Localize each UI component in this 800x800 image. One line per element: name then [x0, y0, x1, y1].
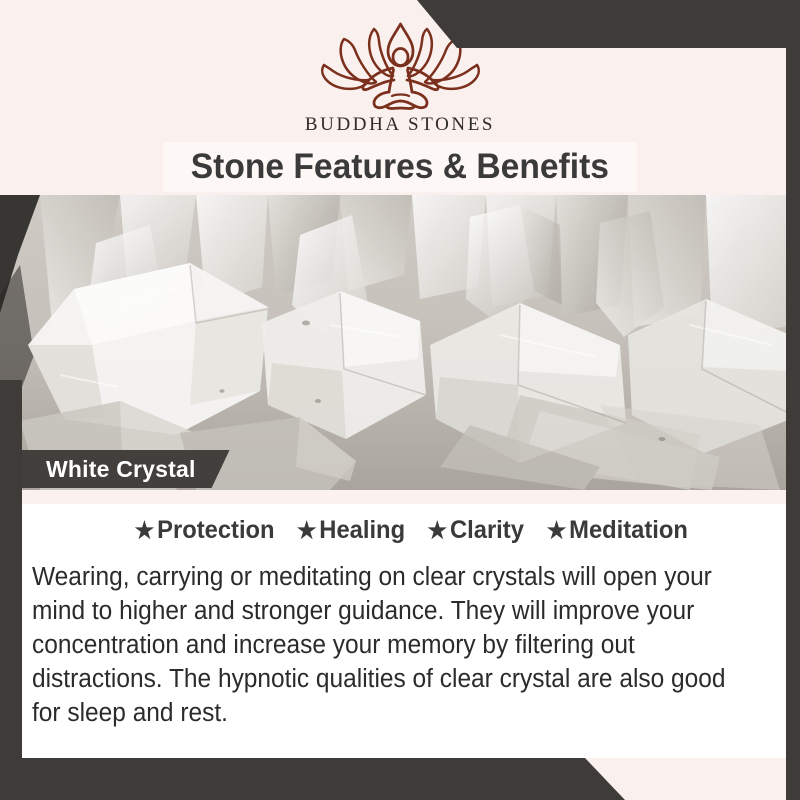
- page-title: Stone Features & Benefits: [191, 147, 609, 187]
- title-banner: Stone Features & Benefits: [163, 142, 637, 192]
- benefit-label: Clarity: [450, 516, 524, 544]
- left-decorative-band: [0, 380, 22, 800]
- bottom-decorative-band: [0, 758, 800, 800]
- benefit-item: ★Healing: [297, 516, 405, 545]
- content-panel-top-strip: [22, 490, 800, 504]
- star-icon: ★: [546, 517, 566, 543]
- poster-root: BUDDHA STONES Stone Features & Benefits: [0, 0, 800, 800]
- stone-name-tag: White Crystal: [22, 450, 230, 488]
- benefits-list: ★Protection ★Healing ★Clarity ★Meditatio…: [22, 516, 800, 545]
- star-icon: ★: [427, 517, 447, 543]
- benefit-label: Protection: [157, 516, 274, 544]
- star-icon: ★: [134, 517, 154, 543]
- star-icon: ★: [297, 517, 317, 543]
- right-decorative-band: [786, 0, 800, 800]
- benefit-item: ★Clarity: [427, 516, 523, 545]
- benefit-label: Healing: [320, 516, 406, 544]
- crystal-photo: [0, 195, 800, 490]
- benefit-item: ★Meditation: [546, 516, 687, 545]
- benefit-item: ★Protection: [134, 516, 274, 545]
- brand-name: BUDDHA STONES: [0, 114, 800, 136]
- stone-name: White Crystal: [46, 456, 196, 483]
- description-text: Wearing, carrying or meditating on clear…: [32, 560, 744, 730]
- benefit-label: Meditation: [569, 516, 688, 544]
